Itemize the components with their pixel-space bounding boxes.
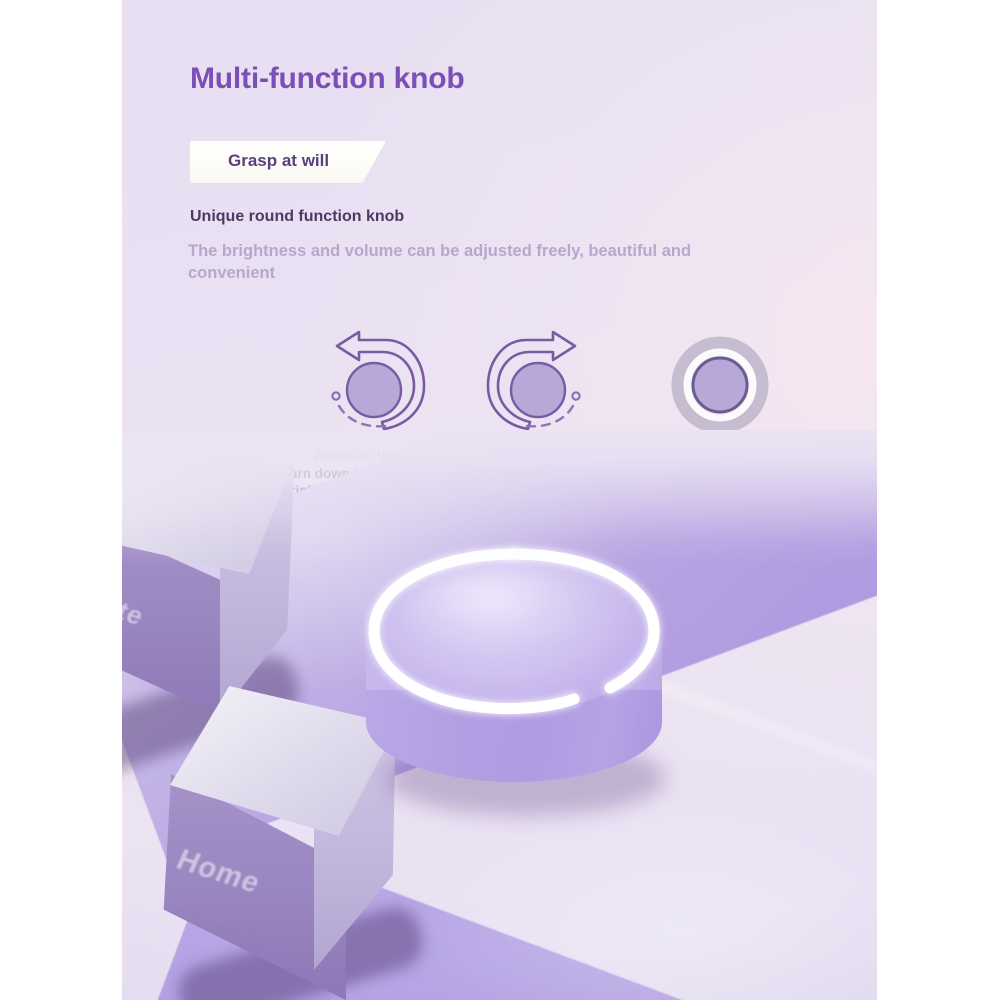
page-root: Multi-function knob Grasp at will Unique… xyxy=(0,0,1000,1000)
description-text: The brightness and volume can be adjuste… xyxy=(188,240,748,284)
page-title: Multi-function knob xyxy=(190,62,464,96)
feature-figure xyxy=(278,328,458,434)
press-knob-icon xyxy=(660,328,780,434)
promo-panel: Multi-function knob Grasp at will Unique… xyxy=(122,0,877,1000)
rotate-right-icon xyxy=(466,328,622,434)
product-photo: elete Home xyxy=(122,430,877,1000)
rotate-left-icon xyxy=(290,328,446,434)
feature-figure xyxy=(630,328,830,434)
status-badge-label: Grasp at will xyxy=(228,151,329,171)
subheading: Unique round function knob xyxy=(190,208,404,226)
knob-light-ring xyxy=(356,538,672,724)
feature-figure xyxy=(454,328,634,434)
multi-function-knob[interactable] xyxy=(350,542,690,842)
status-badge: Grasp at will xyxy=(190,141,386,183)
